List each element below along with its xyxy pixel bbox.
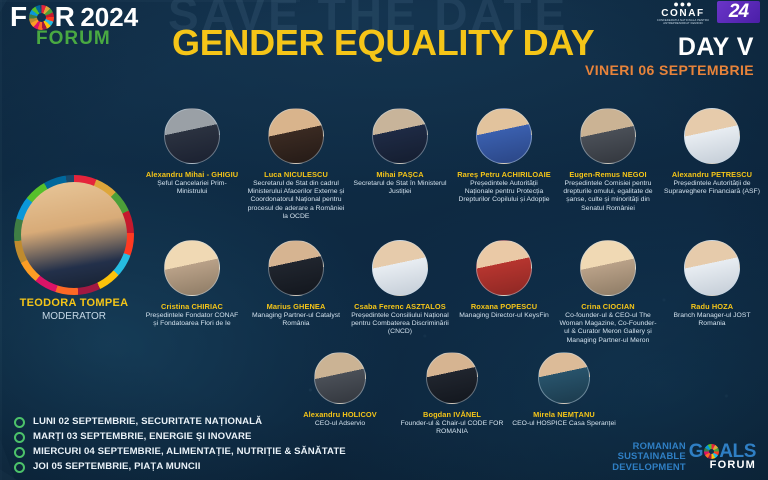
- avatar: [476, 240, 532, 296]
- bullet-circle-icon: [14, 432, 25, 443]
- speaker-name: Alexandru PETRESCU: [660, 170, 764, 179]
- speaker-title: Branch Manager-ul JOST Romania: [660, 312, 764, 328]
- speaker-title: Șeful Cancelariei Prim-Ministrului: [140, 180, 244, 196]
- avatar: [684, 108, 740, 164]
- speaker-title: Managing Partner-ul Catalyst România: [244, 312, 348, 328]
- schedule-item: LUNI 02 SEPTEMBRIE, SECURITATE NAȚIONALĂ: [14, 416, 354, 428]
- avatar: [21, 182, 127, 288]
- schedule-item-label: MARȚI 03 SEPTEMBRIE, ENERGIE ȘI INOVARE: [33, 431, 252, 443]
- speaker-card: Luca NICULESCUSecretarul de Stat din cad…: [244, 108, 348, 221]
- speaker-card: Mihai PAȘCASecretarul de Stat în Ministe…: [348, 108, 452, 221]
- bullet-circle-icon: [14, 417, 25, 428]
- speaker-card: Rareș Petru ACHIRILOAIEPreședintele Auto…: [452, 108, 556, 221]
- speaker-name: Radu HOZA: [660, 302, 764, 311]
- event-poster: SAVE THE DATE F R 2024 FORUM GENDER EQUA…: [0, 0, 768, 480]
- schedule-item-label: JOI 05 SEPTEMBRIE, PIAȚA MUNCII: [33, 461, 200, 473]
- conaf-dots-icon: ●●●: [652, 0, 714, 8]
- page-title: GENDER EQUALITY DAY: [172, 22, 594, 64]
- speaker-title: Președintele Autorității de Supraveghere…: [660, 180, 764, 196]
- bullet-circle-icon: [14, 462, 25, 473]
- avatar: [580, 240, 636, 296]
- conaf-name: CONAF: [652, 8, 714, 19]
- speaker-card: Cristina CHIRIACPreședintele Fondator CO…: [140, 240, 244, 345]
- speaker-name: Luca NICULESCU: [244, 170, 348, 179]
- speaker-name: Eugen-Remus NEGOI: [556, 170, 660, 179]
- moderator-role: MODERATOR: [8, 311, 140, 322]
- avatar: [426, 352, 478, 404]
- speaker-row-1: Alexandru Mihai - GHIGIUȘeful Cancelarie…: [140, 108, 766, 221]
- goals-letter-g: G: [689, 442, 703, 461]
- speaker-card: Bogdan IVĂNELFounder-ul & Chair-ul CODE …: [396, 352, 508, 436]
- rsdg-wordmark: ROMANIAN SUSTAINABLE DEVELOPMENT: [612, 441, 686, 472]
- avatar: [372, 108, 428, 164]
- speaker-name: Rareș Petru ACHIRILOAIE: [452, 170, 556, 179]
- speaker-title: Președintele Comisiei pentru drepturile …: [556, 180, 660, 213]
- avatar: [164, 108, 220, 164]
- speaker-name: Bogdan IVĂNEL: [396, 410, 508, 419]
- speaker-card: Csaba Ferenc ASZTALOSPreședintele Consil…: [348, 240, 452, 345]
- speaker-title: Founder-ul & Chair-ul CODE FOR ROMANIA: [396, 420, 508, 436]
- for-forum-logo: F R 2024 FORUM: [10, 2, 190, 48]
- sdg-color-wheel-icon: [704, 444, 719, 459]
- schedule-item: MARȚI 03 SEPTEMBRIE, ENERGIE ȘI INOVARE: [14, 431, 354, 443]
- schedule-item-label: MIERCURI 04 SEPTEMBRIE, ALIMENTAȚIE, NUT…: [33, 446, 346, 458]
- moderator-photo-wrap: [21, 182, 127, 288]
- avatar: [268, 240, 324, 296]
- conaf-logo: ●●● CONAF CONFEDERATIA NATIONALA PENTRU …: [652, 0, 714, 26]
- day-label: DAY V: [678, 33, 754, 62]
- speaker-name: Roxana POPESCU: [452, 302, 556, 311]
- speaker-name: Crina CIOCIAN: [556, 302, 660, 311]
- schedule-item: MIERCURI 04 SEPTEMBRIE, ALIMENTAȚIE, NUT…: [14, 446, 354, 458]
- speaker-card: Roxana POPESCUManaging Director-ul KeysF…: [452, 240, 556, 345]
- speaker-title: Președintele Consiliului Național pentru…: [348, 312, 452, 337]
- speaker-card: Alexandru Mihai - GHIGIUȘeful Cancelarie…: [140, 108, 244, 221]
- speaker-card: Marius GHENEAManaging Partner-ul Catalys…: [244, 240, 348, 345]
- speaker-name: Marius GHENEA: [244, 302, 348, 311]
- avatar: [164, 240, 220, 296]
- avatar: [580, 108, 636, 164]
- speaker-title: Co-founder-ul & CEO-ul The Woman Magazin…: [556, 312, 660, 345]
- bullet-circle-icon: [14, 447, 25, 458]
- moderator-card: TEODORA TOMPEA MODERATOR: [8, 182, 140, 322]
- speaker-card: Eugen-Remus NEGOIPreședintele Comisiei p…: [556, 108, 660, 221]
- speaker-title: Președintele Autorității Naționale pentr…: [452, 180, 556, 205]
- avatar: [372, 240, 428, 296]
- speaker-title: Managing Director-ul KeysFin: [452, 312, 556, 320]
- schedule-list: LUNI 02 SEPTEMBRIE, SECURITATE NAȚIONALĂ…: [14, 416, 354, 476]
- moderator-name: TEODORA TOMPEA: [8, 297, 140, 309]
- speaker-row-2: Cristina CHIRIACPreședintele Fondator CO…: [140, 240, 766, 345]
- speaker-name: Mirela NEMȚANU: [508, 410, 620, 419]
- speaker-title: Secretarul de Stat din cadrul Ministerul…: [244, 180, 348, 221]
- rsdg-forum-logo: ROMANIAN SUSTAINABLE DEVELOPMENT G ALS F…: [612, 441, 756, 472]
- avatar: [538, 352, 590, 404]
- for-letter-f: F: [10, 1, 28, 33]
- sdg-color-wheel-icon: [29, 5, 54, 30]
- speaker-card: Radu HOZABranch Manager-ul JOST Romania: [660, 240, 764, 345]
- day-date: VINERI 06 SEPTEMBRIE: [585, 62, 754, 78]
- speaker-title: Președintele Fondator CONAF și Fondatoar…: [140, 312, 244, 328]
- schedule-item-label: LUNI 02 SEPTEMBRIE, SECURITATE NAȚIONALĂ: [33, 416, 262, 428]
- speaker-card: Alexandru PETRESCUPreședintele Autorităț…: [660, 108, 764, 221]
- rsdg-line-3: DEVELOPMENT: [612, 462, 686, 472]
- speaker-name: Csaba Ferenc ASZTALOS: [348, 302, 452, 311]
- speaker-card: Mirela NEMȚANUCEO-ul HOSPICE Casa Speran…: [508, 352, 620, 436]
- avatar: [314, 352, 366, 404]
- goals-wordmark: G ALS FORUM: [689, 442, 756, 471]
- schedule-item: JOI 05 SEPTEMBRIE, PIAȚA MUNCII: [14, 461, 354, 473]
- antena24-logo: 24: [717, 1, 760, 23]
- speaker-title: Secretarul de Stat în Ministerul Justiți…: [348, 180, 452, 196]
- speaker-title: CEO-ul HOSPICE Casa Speranței: [508, 420, 620, 428]
- speaker-name: Mihai PAȘCA: [348, 170, 452, 179]
- conaf-subtitle: CONFEDERATIA NATIONALA PENTRU ANTREPRENO…: [652, 19, 714, 26]
- speaker-name: Cristina CHIRIAC: [140, 302, 244, 311]
- avatar: [476, 108, 532, 164]
- avatar: [684, 240, 740, 296]
- speaker-card: Crina CIOCIANCo-founder-ul & CEO-ul The …: [556, 240, 660, 345]
- speaker-name: Alexandru Mihai - GHIGIU: [140, 170, 244, 179]
- avatar: [268, 108, 324, 164]
